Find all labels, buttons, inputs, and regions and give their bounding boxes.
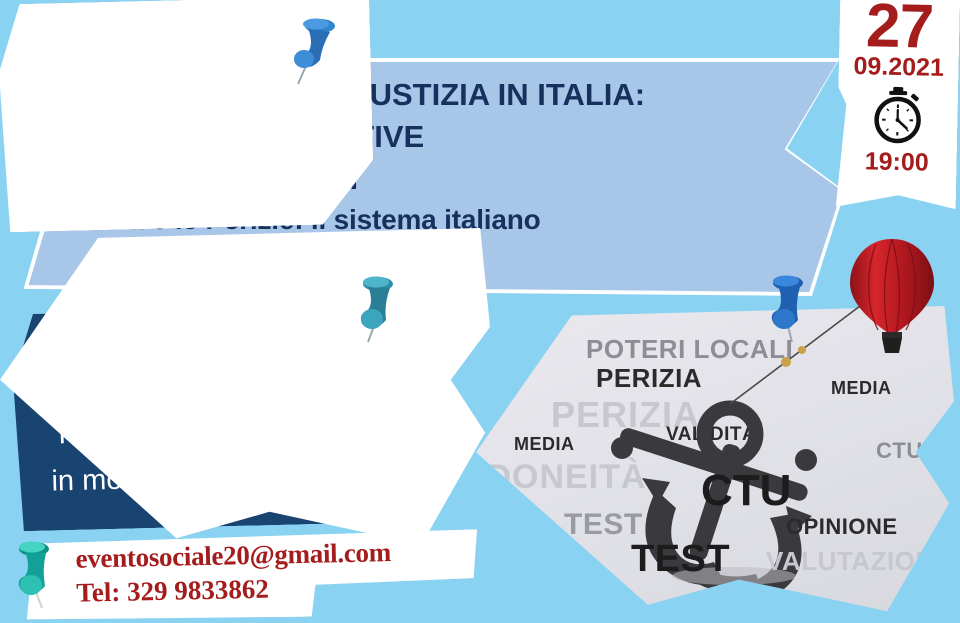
poster-canvas: IL VALORE DELLA GIUSTIZIA IN ITALIA: TRA… (0, 0, 960, 623)
hot-air-balloon-icon (846, 237, 938, 357)
event-day: 27 (865, 0, 933, 58)
stopwatch-icon (869, 85, 926, 144)
cloud-word: OPINIONE (786, 514, 898, 540)
cloud-word: TEST (631, 538, 730, 581)
date-card-content: 27 09.2021 (836, 0, 960, 209)
contact-email[interactable]: eventosociale20@gmail.com (75, 537, 391, 575)
contact-phone: Tel: 329 9833862 (76, 574, 269, 609)
event-time: 19:00 (864, 147, 929, 177)
cloud-word: TEST (564, 508, 643, 542)
pushpin-icon (350, 272, 402, 344)
contact-card: eventosociale20@gmail.com Tel: 329 98338… (25, 529, 479, 622)
cloud-word: MEDIA (514, 434, 575, 455)
pushpin-icon (286, 14, 338, 86)
pushpin-icon (8, 538, 60, 610)
cloud-word: VALUTAZIONE (766, 546, 953, 577)
cloud-word: CTU (876, 438, 923, 464)
date-card: 27 09.2021 (836, 0, 960, 209)
cloud-word: CTU (701, 466, 791, 516)
pushpin-icon (762, 272, 814, 344)
event-month-year: 09.2021 (853, 54, 944, 81)
